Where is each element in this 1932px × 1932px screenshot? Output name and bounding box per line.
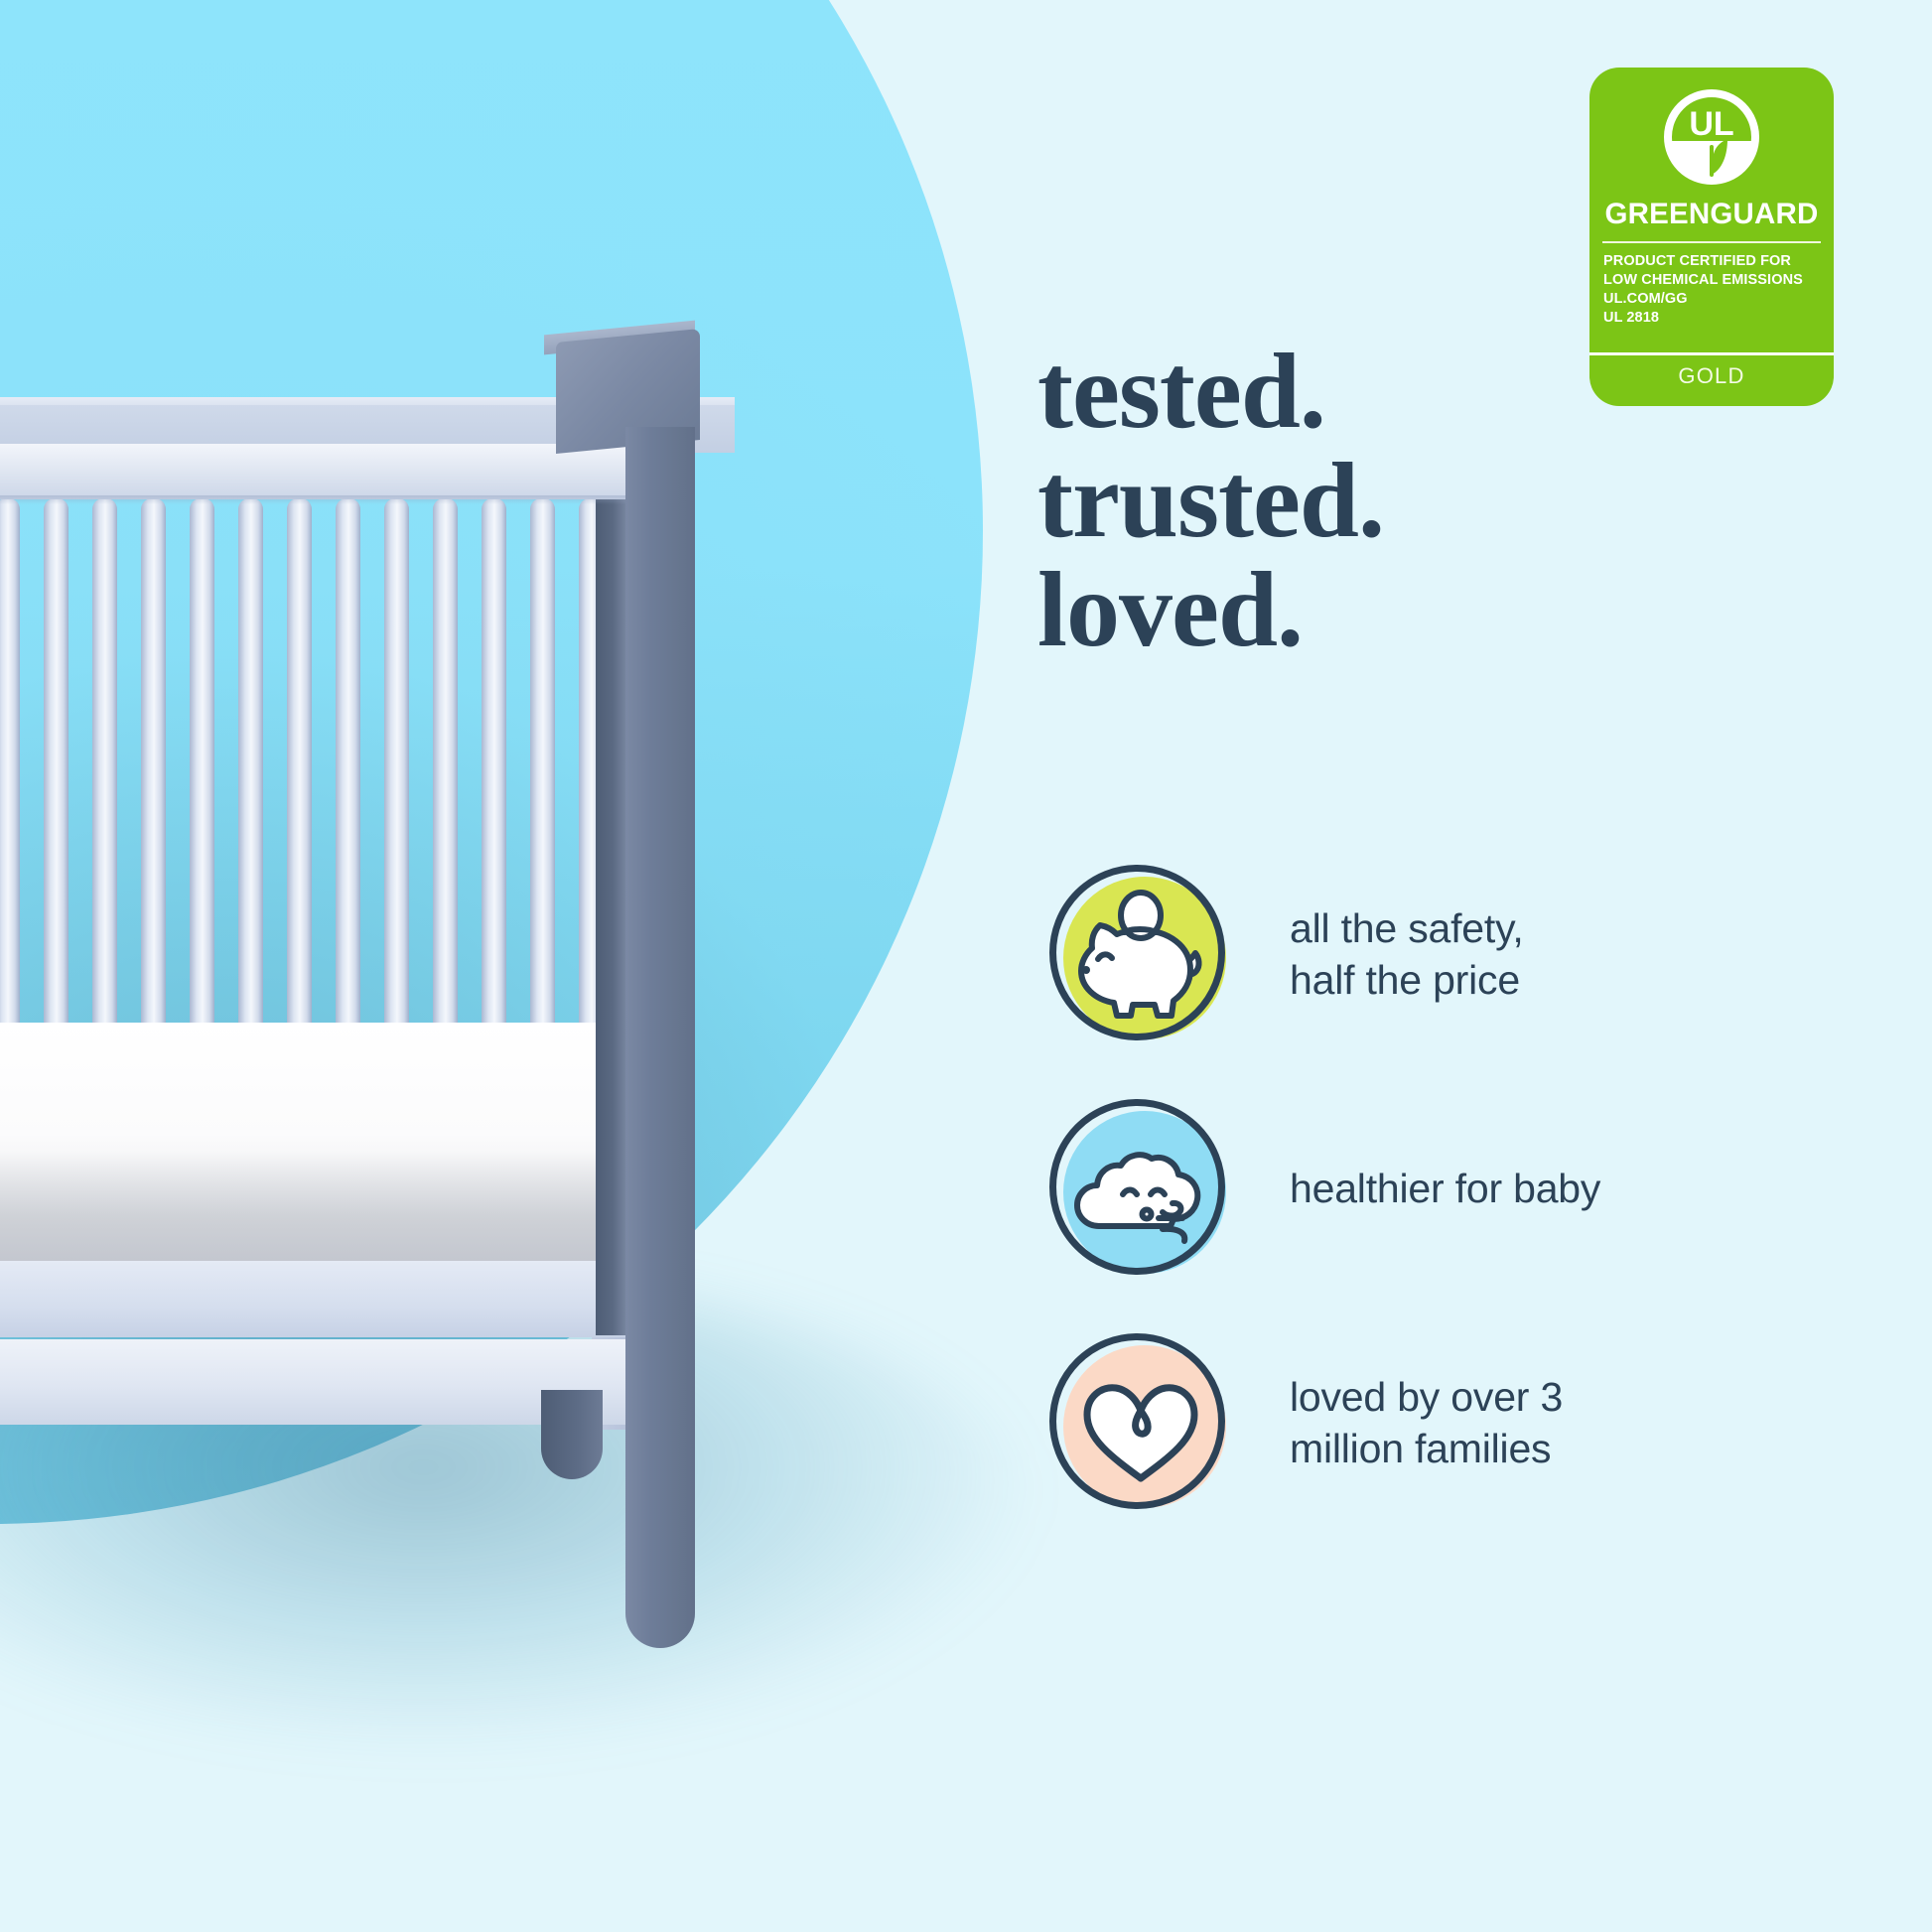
feature-icon-savings xyxy=(1037,859,1236,1049)
badge-detail-line-2: LOW CHEMICAL EMISSIONS xyxy=(1603,271,1803,290)
feature-row-savings: all the safety, half the price xyxy=(1037,837,1931,1071)
badge-grade: GOLD xyxy=(1589,363,1834,389)
headline-line-2: trusted. xyxy=(1037,447,1384,556)
feature-label-loved: loved by over 3 million families xyxy=(1290,1371,1563,1475)
feature-label-health: healthier for baby xyxy=(1290,1163,1600,1214)
crib-leg-inner xyxy=(541,1390,603,1479)
crib-slat xyxy=(530,498,555,1059)
crib-illustration xyxy=(0,0,894,1688)
crib-lower-rail-upper xyxy=(0,1261,655,1337)
blowing-cloud-icon xyxy=(1059,1109,1222,1272)
crib-slat xyxy=(336,498,360,1059)
greenguard-certification-badge: UL GREENGUARD PRODUCT CERTIFIED FOR LOW … xyxy=(1589,68,1834,406)
crib-mattress-shading xyxy=(0,1152,655,1269)
crib-slat xyxy=(287,498,312,1059)
crib-slat xyxy=(190,498,214,1059)
crib-corner-post-inner-face xyxy=(596,437,627,1335)
headline-line-3: loved. xyxy=(1037,556,1384,665)
feature-row-health: healthier for baby xyxy=(1037,1071,1931,1306)
crib-slat xyxy=(92,498,117,1059)
svg-text:UL: UL xyxy=(1689,105,1733,143)
piggy-bank-icon xyxy=(1059,875,1222,1037)
crib-slat xyxy=(0,498,20,1059)
ul-leaf-icon: UL xyxy=(1658,83,1765,191)
crib-slats xyxy=(0,498,635,1059)
crib-slat xyxy=(482,498,506,1059)
crib-slat xyxy=(141,498,166,1059)
crib-slat xyxy=(238,498,263,1059)
badge-footer-rule xyxy=(1589,352,1834,355)
badge-details: PRODUCT CERTIFIED FOR LOW CHEMICAL EMISS… xyxy=(1603,252,1803,327)
crib-slat xyxy=(433,498,458,1059)
badge-title: GREENGUARD xyxy=(1589,198,1834,231)
crib-top-rail-shadow xyxy=(0,495,635,504)
crib-corner-post xyxy=(625,427,695,1648)
promo-image: UL GREENGUARD PRODUCT CERTIFIED FOR LOW … xyxy=(0,0,1932,1932)
crib-slat xyxy=(384,498,409,1059)
feature-label-savings: all the safety, half the price xyxy=(1290,902,1524,1007)
crib-slat xyxy=(44,498,69,1059)
feature-list: all the safety, half the price xyxy=(1037,837,1931,1540)
badge-detail-line-1: PRODUCT CERTIFIED FOR xyxy=(1603,252,1803,271)
feature-icon-loved xyxy=(1037,1327,1236,1518)
feature-row-loved: loved by over 3 million families xyxy=(1037,1306,1931,1540)
feature-icon-health xyxy=(1037,1093,1236,1284)
content-column: UL GREENGUARD PRODUCT CERTIFIED FOR LOW … xyxy=(1028,0,1932,1932)
badge-divider xyxy=(1602,241,1821,243)
headline-line-1: tested. xyxy=(1037,338,1384,447)
badge-detail-line-4: UL 2818 xyxy=(1603,309,1803,328)
heart-icon xyxy=(1059,1343,1222,1506)
headline: tested. trusted. loved. xyxy=(1037,338,1384,665)
badge-detail-line-3: UL.COM/GG xyxy=(1603,290,1803,309)
